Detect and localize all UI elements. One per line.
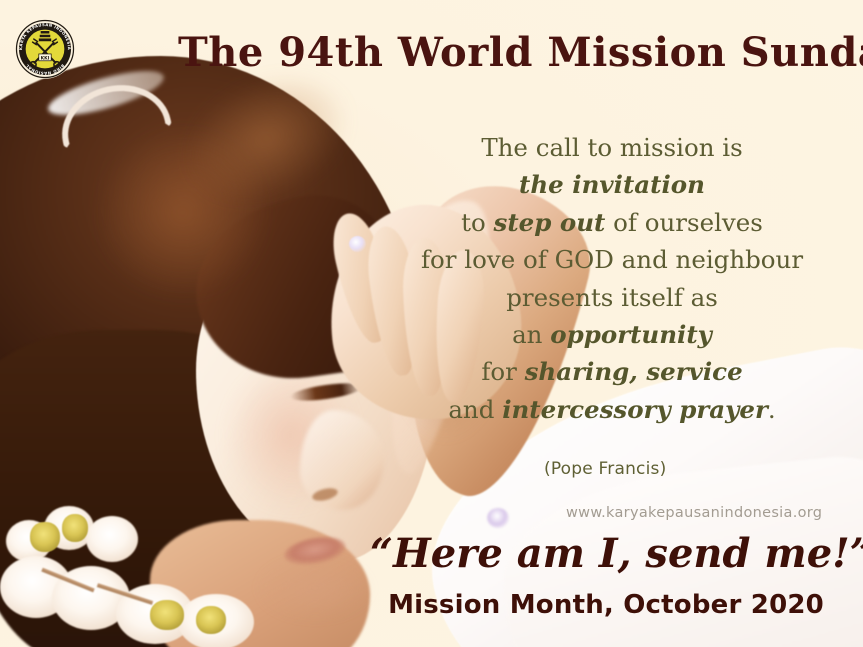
anointing-glint-icon — [349, 236, 366, 252]
quote-emphasis: the invitation — [519, 170, 705, 199]
poster-title: The 94th World Mission Sunday — [178, 33, 854, 73]
flower-core-icon — [150, 600, 184, 630]
quote-line: to step out of ourselves — [386, 204, 838, 241]
pope-quote: The call to mission isthe invitationto s… — [386, 129, 838, 428]
flower-core-icon — [30, 522, 60, 552]
quote-emphasis: opportunity — [550, 320, 712, 349]
kki-logo[interactable]: KKI KARYA KEPAUSAN INDONESIA BIRO NASION… — [14, 18, 76, 80]
quote-line: and intercessory prayer. — [386, 391, 838, 428]
flower-core-icon — [62, 514, 88, 542]
quote-text: of ourselves — [605, 208, 762, 237]
quote-text: presents itself as — [506, 283, 718, 312]
quote-line: for sharing, service — [386, 353, 838, 390]
quote-emphasis: intercessory prayer — [502, 395, 768, 424]
website-url[interactable]: www.karyakepausanindonesia.org — [566, 505, 822, 521]
quote-line: for love of GOD and neighbour — [386, 241, 838, 278]
quote-text: and — [448, 395, 502, 424]
quote-text: for love of GOD and neighbour — [421, 245, 803, 274]
quote-line: The call to mission is — [386, 129, 838, 166]
quote-text: to — [461, 208, 493, 237]
kki-seal-icon: KKI KARYA KEPAUSAN INDONESIA BIRO NASION… — [14, 18, 76, 80]
quote-text: for — [481, 357, 524, 386]
quote-text: an — [512, 320, 550, 349]
poster-tagline: “Here am I, send me!” — [370, 533, 842, 575]
flower-core-icon — [196, 606, 226, 634]
quote-attribution: (Pope Francis) — [544, 459, 666, 479]
anointing-glint-icon — [487, 508, 509, 528]
chin-shadow-icon — [250, 560, 380, 630]
quote-line: presents itself as — [386, 279, 838, 316]
world-mission-sunday-poster: KKI KARYA KEPAUSAN INDONESIA BIRO NASION… — [0, 0, 863, 647]
mission-month-line: Mission Month, October 2020 — [370, 590, 842, 620]
quote-line: an opportunity — [386, 316, 838, 353]
quote-line: the invitation — [386, 166, 838, 203]
kki-center-text: KKI — [41, 55, 50, 61]
quote-emphasis: step out — [494, 208, 606, 237]
quote-text: . — [768, 395, 776, 424]
quote-text: The call to mission is — [481, 133, 742, 162]
quote-emphasis: sharing, service — [525, 357, 743, 386]
flower-petal-icon — [86, 516, 138, 562]
